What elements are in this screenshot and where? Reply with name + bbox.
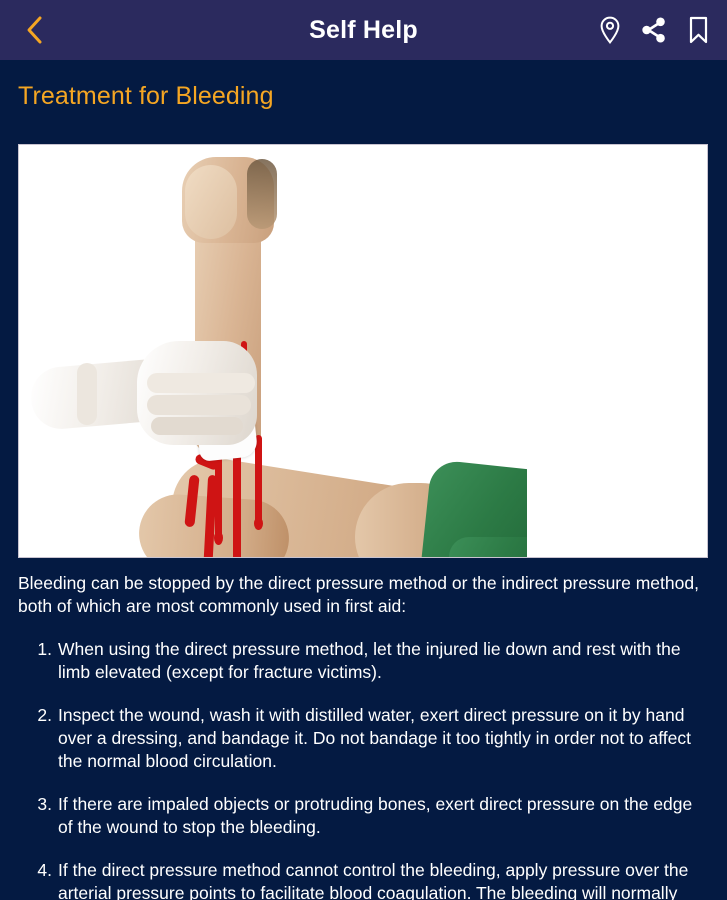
share-button[interactable] <box>639 15 669 45</box>
app-bar: Self Help <box>0 0 727 60</box>
app-screen: Self Help <box>0 0 727 900</box>
list-item: 3. If there are impaled objects or protr… <box>18 793 709 839</box>
share-icon <box>640 16 668 44</box>
photo-glove-finger-1 <box>147 373 255 393</box>
photo-fist-knuckles <box>247 159 277 229</box>
list-item-number: 1. <box>30 638 52 661</box>
app-bar-actions <box>595 15 713 45</box>
photo-fist-highlight <box>185 165 237 239</box>
list-item: 1. When using the direct pressure method… <box>18 638 709 684</box>
list-item-text: If there are impaled objects or protrudi… <box>58 794 692 837</box>
photo-blood-droplet-3 <box>254 517 263 530</box>
list-item-text: If the direct pressure method cannot con… <box>58 860 697 900</box>
bookmark-button[interactable] <box>683 15 713 45</box>
page-title: Treatment for Bleeding <box>0 60 727 111</box>
list-item-number: 4. <box>30 859 52 882</box>
photo-blood-drip-2 <box>233 441 241 557</box>
photo-glove-finger-2 <box>147 395 251 415</box>
chevron-left-icon <box>25 15 45 45</box>
photo-green-sleeve-body <box>449 537 527 557</box>
first-aid-photo <box>19 145 527 557</box>
back-button[interactable] <box>14 9 56 51</box>
bookmark-icon <box>688 16 709 44</box>
list-item-text: When using the direct pressure method, l… <box>58 639 681 682</box>
intro-paragraph: Bleeding can be stopped by the direct pr… <box>18 572 709 618</box>
steps-list: 1. When using the direct pressure method… <box>18 638 709 900</box>
photo-glove-finger-3 <box>151 417 243 435</box>
photo-glove-cuff <box>77 363 97 425</box>
list-item: 4. If the direct pressure method cannot … <box>18 859 709 900</box>
list-item-number: 3. <box>30 793 52 816</box>
location-button[interactable] <box>595 15 625 45</box>
list-item: 2. Inspect the wound, wash it with disti… <box>18 704 709 773</box>
article-body: Bleeding can be stopped by the direct pr… <box>0 572 727 900</box>
location-pin-icon <box>598 16 622 44</box>
photo-blood-drip-3 <box>255 435 262 527</box>
list-item-text: Inspect the wound, wash it with distille… <box>58 705 691 771</box>
list-item-number: 2. <box>30 704 52 727</box>
photo-blood-droplet-1 <box>214 531 223 545</box>
article-figure <box>18 144 708 558</box>
